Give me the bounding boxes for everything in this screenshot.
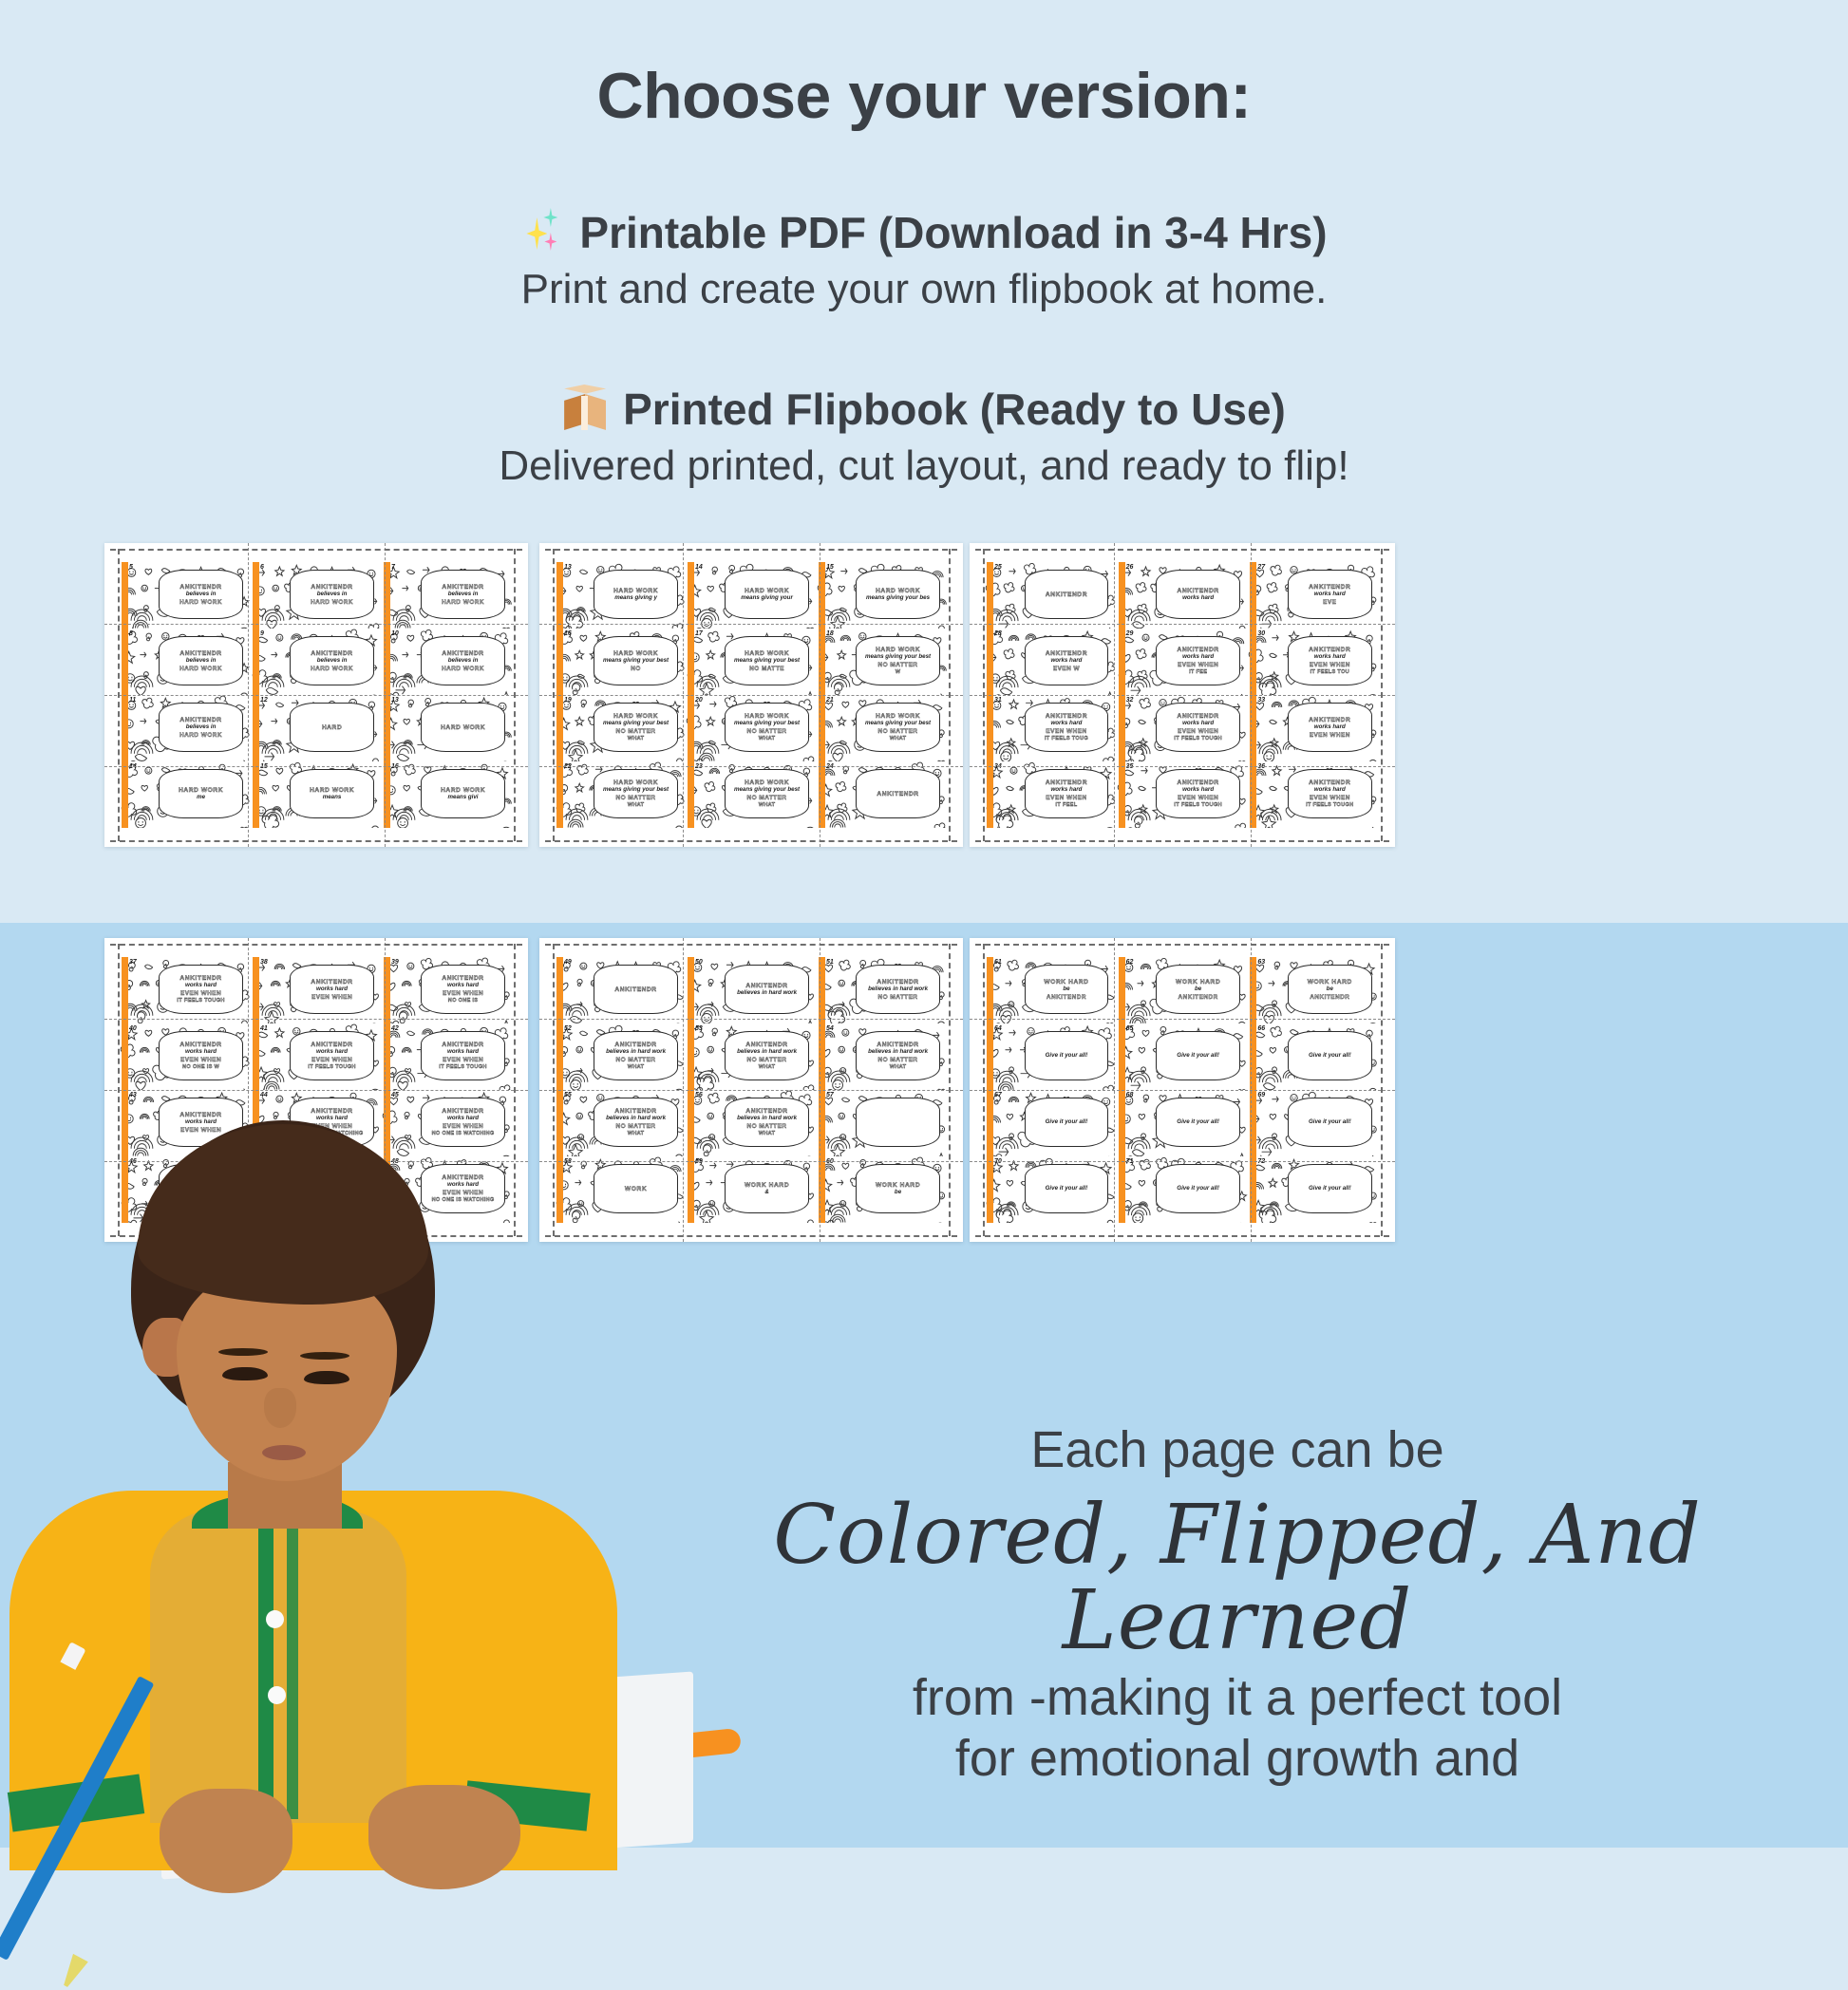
cut-guide-horizontal xyxy=(970,624,1395,625)
page-text-line: works hard xyxy=(1314,787,1346,794)
flipbook-page-cell: 72Give it your all! xyxy=(1248,1156,1380,1223)
page-text-line: NO ONE IS xyxy=(448,998,479,1004)
page-text-line: HARD WORK xyxy=(613,713,658,720)
page-text-line: HARD WORK xyxy=(613,588,658,594)
page-text-line: believes in hard work xyxy=(868,1049,928,1056)
page-text-plate: ANKITENDRworks hardEVEN WHENIT FEELS TOU… xyxy=(290,1031,373,1080)
kurta-button-bottom xyxy=(268,1686,286,1704)
page-number: 19 xyxy=(564,697,572,704)
page-spine-strip xyxy=(122,695,128,761)
page-text-line: believes in hard work xyxy=(606,1049,666,1056)
page-text-line: means giving your best xyxy=(734,658,800,665)
cut-guide-vertical xyxy=(385,543,386,847)
page-text-plate: HARD WORKmeans giving y xyxy=(594,570,677,619)
page-number: 8 xyxy=(129,630,133,637)
page-text-line: ANKITENDR xyxy=(1047,994,1086,1001)
page-text-line: NO xyxy=(631,666,641,672)
flipbook-page-cell: 36ANKITENDRworks hardEVEN WHENIT FEELS T… xyxy=(1248,761,1380,828)
page-text-line: EVEN WHEN xyxy=(311,994,352,1001)
page-text-line: WHAT xyxy=(890,1064,907,1070)
cut-guide-horizontal xyxy=(539,1019,963,1020)
page-text-plate: ANKITENDRworks hardEVEN WHENIT FEE xyxy=(1156,636,1240,685)
flipbook-page-cell: 41ANKITENDRworks hardEVEN WHENIT FEELS T… xyxy=(251,1023,382,1090)
flipbook-page-cell: 28ANKITENDRworks hardEVEN W xyxy=(985,629,1117,695)
page-spine-strip xyxy=(122,562,128,629)
flipbook-page-cell: 18HARD WORKmeans giving your bestNO MATT… xyxy=(817,629,948,695)
flipbook-page-cell: 14HARD WORKmeans giving your xyxy=(686,562,817,629)
page-text-line: NO MATTER xyxy=(747,1123,787,1130)
page-spine-strip xyxy=(688,1023,694,1090)
page-text-line: NO MATTER xyxy=(878,994,918,1001)
page-text-plate: Give it your all! xyxy=(1025,1031,1109,1080)
page-text-line: IT FEELS TOUG xyxy=(1045,736,1088,742)
page-spine-strip xyxy=(1119,1090,1125,1156)
flipbook-page-cell: 10ANKITENDRbelieves inHARD WORK xyxy=(382,629,513,695)
flipbook-page-cell: 65Give it your all! xyxy=(1117,1023,1249,1090)
flipbook-page-cell: 26ANKITENDRworks hard xyxy=(1117,562,1249,629)
page-text-line: EVE xyxy=(1323,599,1336,606)
page-text-line: Give it your all! xyxy=(1177,1119,1219,1126)
page-text-line: ANKITENDR xyxy=(1046,591,1087,598)
flipbook-page-cell: 57 xyxy=(817,1090,948,1156)
page-number: 62 xyxy=(1126,959,1134,966)
page-text-line: works hard xyxy=(316,986,348,993)
page-number: 66 xyxy=(1257,1025,1265,1032)
page-text-line: ANKITENDR xyxy=(1310,994,1349,1001)
each-page-line: Each page can be xyxy=(627,1420,1848,1479)
page-number: 21 xyxy=(826,697,834,704)
flipbook-page-cell: 12HARD xyxy=(251,695,382,761)
page-spine-strip xyxy=(556,1023,563,1090)
page-text-line: ANKITENDR xyxy=(1046,713,1087,720)
pencil-tip xyxy=(58,1954,88,1990)
flipbook-page-cell: 40ANKITENDRworks hardEVEN WHENNO ONE IS … xyxy=(120,1023,251,1090)
script-tagline: Colored, Flipped, And Learned xyxy=(627,1492,1848,1664)
page-text-line: ANKITENDR xyxy=(179,584,221,591)
page-spine-strip xyxy=(253,562,259,629)
page-spine-strip xyxy=(987,1090,993,1156)
page-text-line: WHAT xyxy=(890,736,907,742)
page-text-line: WORK HARD xyxy=(1176,979,1220,986)
flipbook-page-cell: 22HARD WORKmeans giving your bestNO MATT… xyxy=(555,761,686,828)
page-number: 10 xyxy=(391,630,399,637)
page-text-line: works hard xyxy=(1050,787,1082,794)
page-text-line: ANKITENDR xyxy=(877,1042,918,1048)
page-text-line: believes in hard work xyxy=(868,986,928,993)
page-number: 54 xyxy=(826,1025,834,1032)
page-text-plate: ANKITENDRworks hardEVEN WHENNO ONE IS xyxy=(421,965,504,1014)
trim-line-horizontal xyxy=(975,840,1389,842)
page-text-line: NO MATTER xyxy=(878,728,918,735)
page-text-plate: ANKITENDRworks hardEVEN WHENIT FEELS TOU… xyxy=(1288,769,1372,818)
page-number: 51 xyxy=(826,959,834,966)
page-text-line: IT FEELS TOU xyxy=(1311,669,1349,675)
page-number: 16 xyxy=(564,630,572,637)
page-text-line: ANKITENDR xyxy=(1178,588,1219,594)
page-text-plate: WORK HARDbeANKITENDR xyxy=(1156,965,1240,1014)
page-number: 27 xyxy=(1257,564,1265,571)
page-text-plate: ANKITENDRbelieves in hard workNO MATTERW… xyxy=(856,1031,939,1080)
page-number: 40 xyxy=(129,1025,137,1032)
page-text-plate: ANKITENDRworks hardEVEN WHENIT FEEL xyxy=(1025,769,1109,818)
page-text-line: EVEN WHEN xyxy=(180,1057,221,1063)
page-number: 42 xyxy=(391,1025,399,1032)
page-text-plate: Give it your all! xyxy=(1288,1031,1372,1080)
page-text-line: means givi xyxy=(448,795,479,801)
page-text-line: WORK HARD xyxy=(1308,979,1352,986)
page-text-plate: Give it your all! xyxy=(1156,1098,1240,1147)
page-text-plate: HARD WORKmeans giving your bestNO MATTE xyxy=(725,636,808,685)
flipbook-sheet[interactable]: 13HARD WORKmeans giving y14HARD WORKmean… xyxy=(539,543,963,847)
page-text-line: Give it your all! xyxy=(1177,1186,1219,1192)
page-text-line: believes in hard work xyxy=(737,1049,797,1056)
page-spine-strip xyxy=(253,629,259,695)
page-text-line: ANKITENDR xyxy=(1309,647,1350,653)
page-text-line: IT FEELS TOUGH xyxy=(1174,736,1221,742)
page-spine-strip xyxy=(1119,629,1125,695)
page-text-plate: WORK HARDbe xyxy=(856,1164,939,1213)
flipbook-page-cell: 7ANKITENDRbelieves inHARD WORK xyxy=(382,562,513,629)
page-text-line: NO MATTER xyxy=(616,728,656,735)
page-text-line: means xyxy=(323,795,342,801)
page-text-plate: WORK HARDbeANKITENDR xyxy=(1025,965,1109,1014)
page-spine-strip xyxy=(122,1023,128,1090)
page-number: 33 xyxy=(1257,697,1265,704)
page-number: 18 xyxy=(826,630,834,637)
page-text-line: HARD xyxy=(322,724,342,731)
page-text-line: ANKITENDR xyxy=(877,791,918,798)
page-text-line: ANKITENDR xyxy=(311,1042,352,1048)
cut-guide-horizontal xyxy=(970,1090,1395,1091)
flipbook-page-cell: 52ANKITENDRbelieves in hard workNO MATTE… xyxy=(555,1023,686,1090)
page-text-plate: HARD WORK xyxy=(421,703,504,752)
page-spine-strip xyxy=(688,957,694,1023)
page-number: 5 xyxy=(129,564,133,571)
kurta-button-top xyxy=(266,1610,284,1628)
flipbook-page-cell: 13HARD WORKmeans giving y xyxy=(555,562,686,629)
page-number: 30 xyxy=(1257,630,1265,637)
flipbook-page-cell: 9ANKITENDRbelieves inHARD WORK xyxy=(251,629,382,695)
page-text-line: IT FEELS TOUGH xyxy=(439,1064,486,1070)
page-text-plate: ANKITENDRworks hardEVE xyxy=(1288,570,1372,619)
page-text-line: ANKITENDR xyxy=(179,717,221,723)
page-text-line: ANKITENDR xyxy=(877,979,918,986)
page-text-line: HARD WORK xyxy=(745,779,789,786)
trim-line-horizontal xyxy=(975,549,1389,551)
trim-line-horizontal xyxy=(545,840,957,842)
page-text-line: ANKITENDR xyxy=(1179,994,1218,1001)
page-text-line: ANKITENDR xyxy=(179,975,221,982)
page-text-line: WHAT xyxy=(759,1064,776,1070)
page-spine-strip xyxy=(987,761,993,828)
flipbook-sheet[interactable]: 25ANKITENDR26ANKITENDRworks hard27ANKITE… xyxy=(970,543,1395,847)
page-text-plate: ANKITENDRworks hardEVEN WHENIT FEELS TOU… xyxy=(1156,703,1240,752)
page-text-line: HARD WORK xyxy=(311,599,353,606)
page-number: 31 xyxy=(994,697,1002,704)
flipbook-page-cell: 63WORK HARDbeANKITENDR xyxy=(1248,957,1380,1023)
page-text-plate: ANKITENDRworks hardEVEN WHENIT FEELS TOU xyxy=(1288,636,1372,685)
page-number: 17 xyxy=(695,630,703,637)
cut-guide-vertical xyxy=(1114,938,1115,1242)
cut-guide-vertical xyxy=(1251,938,1252,1242)
page-text-line: means giving your best xyxy=(865,721,931,727)
page-number: 63 xyxy=(1257,959,1265,966)
page-text-line: works hard xyxy=(1050,721,1082,727)
cut-guide-vertical xyxy=(248,543,249,847)
page-text-plate: Give it your all! xyxy=(1156,1164,1240,1213)
page-spine-strip xyxy=(253,761,259,828)
page-number: 56 xyxy=(695,1092,703,1098)
page-text-line: works hard xyxy=(1050,658,1082,665)
page-text-line: ANKITENDR xyxy=(442,1042,483,1048)
page-text-line: Give it your all! xyxy=(1177,1053,1219,1060)
page-spine-strip xyxy=(987,629,993,695)
flipbook-page-cell: 8ANKITENDRbelieves inHARD WORK xyxy=(120,629,251,695)
page-number: 13 xyxy=(391,697,399,704)
page-text-line: HARD WORK xyxy=(179,732,222,739)
flipbook-sheet[interactable]: 5ANKITENDRbelieves inHARD WORK6ANKITENDR… xyxy=(104,543,528,847)
flipbook-page-cell: 19HARD WORKmeans giving your bestNO MATT… xyxy=(555,695,686,761)
flipbook-page-cell: 17HARD WORKmeans giving your bestNO MATT… xyxy=(686,629,817,695)
page-text-plate: ANKITENDR xyxy=(1025,570,1109,619)
page-text-line: HARD WORK xyxy=(745,588,789,594)
page-number: 64 xyxy=(994,1025,1002,1032)
page-number: 68 xyxy=(1126,1092,1134,1098)
page-text-line: ANKITENDR xyxy=(442,584,483,591)
page-text-plate: Give it your all! xyxy=(1288,1098,1372,1147)
cut-guide-vertical xyxy=(683,543,684,847)
page-text-plate: HARD WORKmeans giving your bestNO MATTER… xyxy=(594,769,677,818)
page-text-line: works hard xyxy=(185,1049,217,1056)
child-eyebrow-left xyxy=(218,1348,268,1356)
page-text-plate: ANKITENDRbelieves inHARD WORK xyxy=(290,636,373,685)
page-text-line: EVEN W xyxy=(1053,666,1080,672)
flipbook-page-cell: 30ANKITENDRworks hardEVEN WHENIT FEELS T… xyxy=(1248,629,1380,695)
page-text-line: HARD WORK xyxy=(311,666,353,672)
page-text-line: ANKITENDR xyxy=(179,1042,221,1048)
flipbook-page-cell: 15HARD WORKmeans xyxy=(251,761,382,828)
page-text-plate: HARD WORKmeans giving your xyxy=(725,570,808,619)
page-spine-strip xyxy=(253,1023,259,1090)
page-text-line: believes in xyxy=(186,591,217,598)
page-number: 37 xyxy=(129,959,137,966)
trim-line-vertical xyxy=(983,549,985,841)
page-number: 52 xyxy=(564,1025,572,1032)
flipbook-page-cell: 68Give it your all! xyxy=(1117,1090,1249,1156)
flipbook-page-cell: 33ANKITENDRworks hardEVEN WHEN xyxy=(1248,695,1380,761)
page-spine-strip xyxy=(556,629,563,695)
page-text-line: Give it your all! xyxy=(1046,1186,1088,1192)
page-text-line: believes in xyxy=(317,591,348,598)
page-number: 65 xyxy=(1126,1025,1134,1032)
page-text-plate: ANKITENDRbelieves inHARD WORK xyxy=(421,570,504,619)
page-number: 7 xyxy=(391,564,395,571)
page-text-line: means giving your best xyxy=(734,787,800,794)
page-spine-strip xyxy=(1119,562,1125,629)
page-text-line: HARD WORK xyxy=(745,650,789,657)
page-spine-strip xyxy=(688,562,694,629)
page-text-line: HARD WORK xyxy=(876,713,920,720)
flipbook-page-cell: 61WORK HARDbeANKITENDR xyxy=(985,957,1117,1023)
trim-line-horizontal xyxy=(110,840,522,842)
trim-line-horizontal xyxy=(110,549,522,551)
flipbook-page-cell: 50ANKITENDRbelieves in hard work xyxy=(686,957,817,1023)
page-text-plate: ANKITENDRbelieves inHARD WORK xyxy=(159,570,242,619)
page-text-line: ANKITENDR xyxy=(1178,647,1219,653)
flipbook-page-cell: 21HARD WORKmeans giving your bestNO MATT… xyxy=(817,695,948,761)
page-text-line: HARD WORK xyxy=(876,647,920,653)
trim-line-vertical xyxy=(514,549,516,841)
page-text-line: IT FEELS TOUGH xyxy=(308,1064,355,1070)
page-spine-strip xyxy=(688,1090,694,1156)
page-text-plate: ANKITENDRbelieves inHARD WORK xyxy=(159,636,242,685)
page-spine-strip xyxy=(556,761,563,828)
page-text-line: works hard xyxy=(1314,591,1346,598)
flipbook-page-cell: 13HARD WORK xyxy=(382,695,513,761)
page-text-line: works hard xyxy=(1182,595,1214,602)
page-text-line: ANKITENDR xyxy=(442,975,483,982)
page-text-line: EVEN WHEN xyxy=(1178,662,1218,668)
flipbook-page-cell: 15HARD WORKmeans giving your bes xyxy=(817,562,948,629)
page-text-line: IT FEELS TOUGH xyxy=(1306,802,1353,808)
page-spine-strip xyxy=(122,761,128,828)
page-text-line: WORK HARD xyxy=(745,1182,789,1189)
page-text-line: HARD WORK xyxy=(745,713,789,720)
page-text-line: EVEN WHEN xyxy=(1178,795,1218,801)
page-text-line: HARD WORK xyxy=(310,787,354,794)
page-text-line: ANKITENDR xyxy=(745,1042,787,1048)
page-text-plate: ANKITENDRbelieves inHARD WORK xyxy=(290,570,373,619)
page-text-plate xyxy=(856,1098,939,1147)
page-text-plate: WORK HARD& xyxy=(725,1164,808,1213)
page-text-line: NO MATTER xyxy=(878,662,918,668)
page-text-line: works hard xyxy=(447,983,479,989)
page-text-line: ANKITENDR xyxy=(311,584,352,591)
cut-guide-vertical xyxy=(1251,543,1252,847)
page-text-line: WORK HARD xyxy=(1044,979,1088,986)
page-text-line: be xyxy=(1195,986,1201,993)
page-text-line: EVEN WHEN xyxy=(443,990,483,997)
page-text-line: NO MATTER xyxy=(616,795,656,801)
trim-line-vertical xyxy=(1381,549,1383,841)
page-text-plate: HARD WORKmeans giving your bestNO xyxy=(594,636,677,685)
page-text-line: works hard xyxy=(1314,654,1346,661)
page-text-line: believes in xyxy=(186,724,217,731)
page-text-line: ANKITENDR xyxy=(179,650,221,657)
child-nose xyxy=(264,1388,296,1428)
cut-guide-vertical xyxy=(1114,543,1115,847)
page-spine-strip xyxy=(1119,957,1125,1023)
page-text-line: HARD WORK xyxy=(442,666,484,672)
page-number: 32 xyxy=(1126,697,1134,704)
flipbook-page-cell: 42ANKITENDRworks hardEVEN WHENIT FEELS T… xyxy=(382,1023,513,1090)
emotional-growth-line: for emotional growth and xyxy=(627,1729,1848,1788)
page-text-line: works hard xyxy=(1314,724,1346,731)
page-text-line: ANKITENDR xyxy=(311,650,352,657)
page-text-plate: ANKITENDRworks hardEVEN WHENIT FEELS TOU… xyxy=(421,1031,504,1080)
page-text-line: EVEN WHEN xyxy=(443,1057,483,1063)
page-text-line: HARD WORK xyxy=(179,599,222,606)
cut-guide-horizontal xyxy=(104,766,528,767)
flipbook-page-cell: 11ANKITENDRbelieves inHARD WORK xyxy=(120,695,251,761)
page-text-line: ANKITENDR xyxy=(1309,717,1350,723)
page-text-line: believes in hard work xyxy=(737,990,797,997)
page-text-plate: ANKITENDRbelieves inHARD WORK xyxy=(421,636,504,685)
page-text-plate: HARD WORKmeans giving your bes xyxy=(856,570,939,619)
page-number: 61 xyxy=(994,959,1002,966)
flipbook-page-cell: 60WORK HARDbe xyxy=(817,1156,948,1223)
page-text-line: WHAT xyxy=(759,802,776,808)
page-text-plate: ANKITENDRworks hardEVEN WHEN xyxy=(1288,703,1372,752)
page-spine-strip xyxy=(122,957,128,1023)
child-eyebrow-right xyxy=(300,1352,349,1360)
page-text-line: WHAT xyxy=(628,802,645,808)
page-text-plate: ANKITENDRworks hardEVEN WHENIT FEELS TOU… xyxy=(1025,703,1109,752)
page-number: 13 xyxy=(564,564,572,571)
page-spine-strip xyxy=(1119,1156,1125,1223)
page-text-line: believes in xyxy=(448,591,479,598)
kurta-placket-secondary xyxy=(287,1515,298,1819)
page-number: 57 xyxy=(826,1092,834,1098)
cut-guide-vertical xyxy=(820,938,820,1242)
page-spine-strip xyxy=(556,957,563,1023)
page-number: 49 xyxy=(564,959,572,966)
page-text-line: IT FEEL xyxy=(1056,802,1078,808)
cut-guide-vertical xyxy=(683,938,684,1242)
page-text-line: ANKITENDR xyxy=(1046,650,1087,657)
trim-line-vertical xyxy=(553,549,555,841)
page-text-line: IT FEELS TOUGH xyxy=(1174,802,1221,808)
page-text-line: EVEN WHEN xyxy=(1178,728,1218,735)
trim-line-horizontal xyxy=(975,944,1389,946)
child-hair-fringe xyxy=(138,1124,428,1305)
page-spine-strip xyxy=(253,695,259,761)
page-text-line: EVEN WHEN xyxy=(180,990,221,997)
child-mouth xyxy=(262,1445,306,1460)
flipbook-sheet[interactable]: 61WORK HARDbeANKITENDR62WORK HARDbeANKIT… xyxy=(970,938,1395,1242)
page-number: 25 xyxy=(994,564,1002,571)
trim-line-horizontal xyxy=(545,549,957,551)
cut-guide-horizontal xyxy=(539,766,963,767)
page-text-line: believes in xyxy=(186,658,217,665)
page-number: 15 xyxy=(826,564,834,571)
page-text-plate: HARD xyxy=(290,703,373,752)
page-text-line: means giving y xyxy=(614,595,657,602)
page-text-line: NO MATTER xyxy=(878,1057,918,1063)
flipbook-page-cell: 53ANKITENDRbelieves in hard workNO MATTE… xyxy=(686,1023,817,1090)
page-number: 39 xyxy=(391,959,399,966)
page-text-line: NO ONE IS W xyxy=(182,1064,219,1070)
cut-guide-horizontal xyxy=(539,695,963,696)
page-number: 28 xyxy=(994,630,1002,637)
page-text-line: means giving your bes xyxy=(866,595,930,602)
flipbook-page-cell: 62WORK HARDbeANKITENDR xyxy=(1117,957,1249,1023)
flipbook-page-cell: 5ANKITENDRbelieves inHARD WORK xyxy=(120,562,251,629)
flipbook-page-cell: 14HARD WORKme xyxy=(120,761,251,828)
page-text-line: HARD WORK xyxy=(442,599,484,606)
page-text-line: WHAT xyxy=(628,1064,645,1070)
page-text-line: NO MATTER xyxy=(747,795,787,801)
flipbook-page-cell: 16HARD WORKmeans givi xyxy=(382,761,513,828)
flipbook-page-cell: 71Give it your all! xyxy=(1117,1156,1249,1223)
page-text-line: HARD WORK xyxy=(441,787,485,794)
page-text-plate: ANKITENDRworks hardEVEN W xyxy=(1025,636,1109,685)
flipbook-page-cell: 56ANKITENDRbelieves in hard workNO MATTE… xyxy=(686,1090,817,1156)
cut-guide-horizontal xyxy=(104,1019,528,1020)
page-text-plate: Give it your all! xyxy=(1288,1164,1372,1213)
page-text-line: & xyxy=(764,1190,768,1196)
flipbook-page-cell: 59WORK HARD& xyxy=(686,1156,817,1223)
